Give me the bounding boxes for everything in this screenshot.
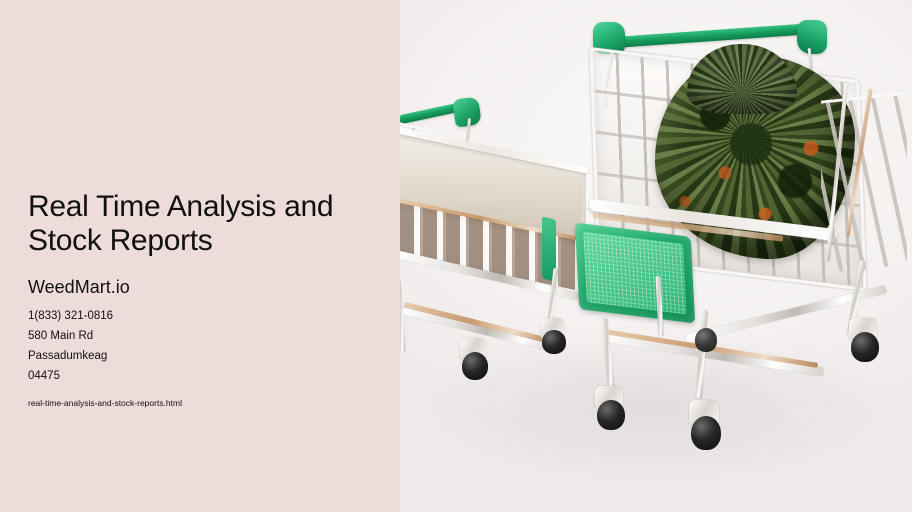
business-info-block: Real Time Analysis and Stock Reports Wee… [28, 190, 388, 410]
caster-wheel-right-d [695, 328, 717, 352]
page-title: Real Time Analysis and Stock Reports [28, 190, 388, 258]
caster-wheel-left-rear [542, 330, 566, 354]
caster-wheel-right-c [851, 332, 879, 362]
cart-handle-right [609, 23, 819, 49]
cart-handle-cap-right-b [797, 20, 827, 54]
left-info-panel: Real Time Analysis and Stock Reports Wee… [0, 0, 400, 512]
zip-code: 04475 [28, 366, 388, 386]
brand-name: WeedMart.io [28, 276, 388, 298]
cart-leg-left-front [400, 280, 406, 352]
city-name: Passadumkeag [28, 346, 388, 366]
phone-number: 1(833) 321-0816 [28, 306, 388, 326]
caster-wheel-right-b [691, 416, 721, 450]
page-slug: real-time-analysis-and-stock-reports.htm… [28, 396, 388, 410]
product-photo [400, 0, 912, 512]
cart-front-panel-green [575, 222, 695, 323]
cart-leg-right-front [601, 318, 615, 392]
cannabis-bud-tip [687, 44, 797, 114]
caster-wheel-left-front [462, 352, 488, 380]
caster-wheel-right-a [597, 400, 625, 430]
page-canvas: Real Time Analysis and Stock Reports Wee… [0, 0, 912, 512]
street-address: 580 Main Rd [28, 326, 388, 346]
shopping-cart-right [585, 18, 912, 478]
